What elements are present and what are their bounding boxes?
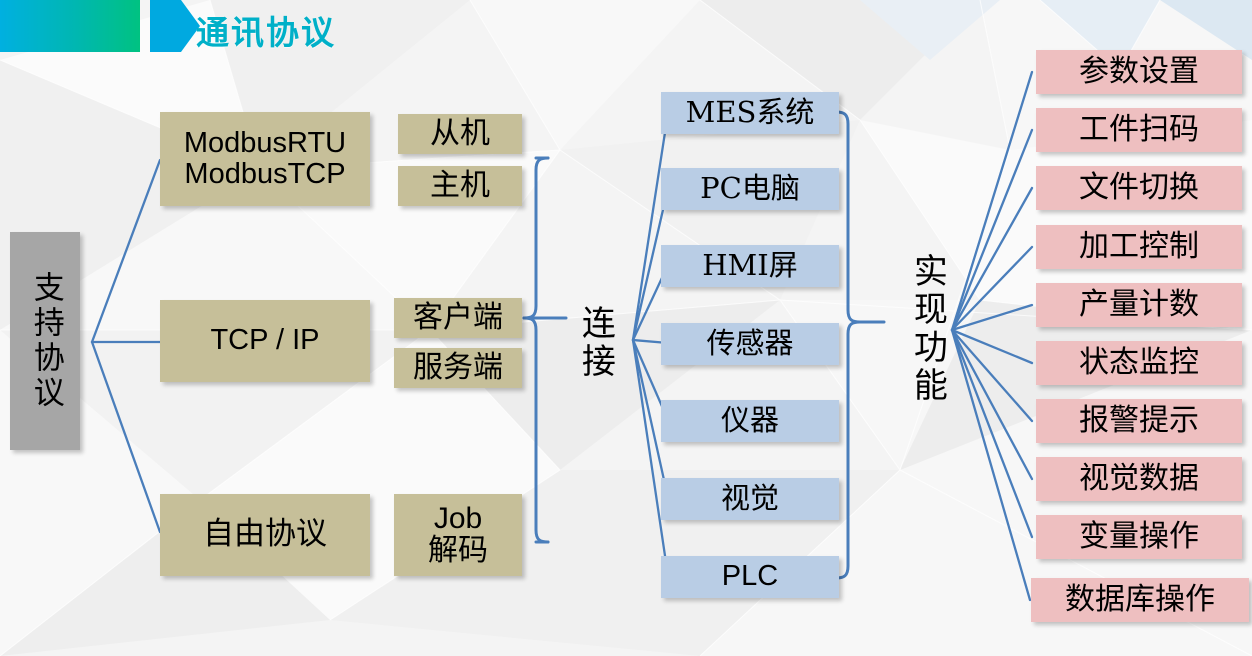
ribbon-arrow-icon bbox=[150, 0, 200, 52]
role-box-master[interactable]: 主机 bbox=[398, 166, 522, 206]
function-box-alarm-prompt[interactable]: 报警提示 bbox=[1036, 399, 1242, 443]
root-node-label: 支持协议 bbox=[28, 271, 61, 411]
role-master-label: 主机 bbox=[430, 170, 490, 202]
device-box-hmi[interactable]: HMI屏 bbox=[661, 245, 839, 287]
ribbon-bar bbox=[0, 0, 140, 52]
protocol-tcpip-label: TCP / IP bbox=[210, 325, 319, 356]
function-workpiece-scan-label: 工件扫码 bbox=[1079, 114, 1199, 146]
device-box-mes[interactable]: MES系统 bbox=[661, 92, 839, 134]
device-box-instrument[interactable]: 仪器 bbox=[661, 400, 839, 442]
protocol-box-tcpip[interactable]: TCP / IP bbox=[160, 300, 370, 382]
function-box-vision-data[interactable]: 视觉数据 bbox=[1036, 457, 1242, 501]
function-box-parameter-setting[interactable]: 参数设置 bbox=[1036, 50, 1242, 94]
role-client-label: 客户端 bbox=[413, 302, 503, 334]
function-database-operation-label: 数据库操作 bbox=[1065, 584, 1215, 616]
device-plc-label: PLC bbox=[722, 561, 778, 592]
device-mes-label: MES系统 bbox=[686, 97, 815, 128]
role-box-server[interactable]: 服务端 bbox=[394, 348, 522, 388]
device-box-plc[interactable]: PLC bbox=[661, 556, 839, 598]
root-node-support-protocol[interactable]: 支持协议 bbox=[10, 232, 80, 450]
function-box-file-switch[interactable]: 文件切换 bbox=[1036, 166, 1242, 210]
ribbon-gap bbox=[140, 0, 150, 52]
device-instrument-label: 仪器 bbox=[721, 405, 779, 436]
role-box-slave[interactable]: 从机 bbox=[398, 114, 522, 154]
page-title: 通讯协议 bbox=[196, 6, 336, 54]
device-vision-label: 视觉 bbox=[721, 483, 779, 514]
device-hmi-label: HMI屏 bbox=[702, 250, 797, 281]
function-box-variable-operation[interactable]: 变量操作 bbox=[1036, 515, 1242, 559]
role-slave-label: 从机 bbox=[430, 118, 490, 150]
function-variable-operation-label: 变量操作 bbox=[1079, 521, 1199, 553]
function-box-database-operation[interactable]: 数据库操作 bbox=[1031, 578, 1249, 622]
function-alarm-prompt-label: 报警提示 bbox=[1079, 405, 1199, 437]
device-sensor-label: 传感器 bbox=[706, 328, 793, 359]
header-ribbon bbox=[0, 0, 200, 52]
device-pc-label: PC电脑 bbox=[700, 173, 800, 204]
function-box-output-count[interactable]: 产量计数 bbox=[1036, 283, 1242, 327]
role-decode-label: 解码 bbox=[428, 535, 488, 567]
device-box-sensor[interactable]: 传感器 bbox=[661, 323, 839, 365]
function-box-machining-control[interactable]: 加工控制 bbox=[1036, 225, 1242, 269]
device-box-pc[interactable]: PC电脑 bbox=[661, 168, 839, 210]
role-job-label: Job bbox=[434, 503, 482, 535]
function-machining-control-label: 加工控制 bbox=[1079, 231, 1199, 263]
function-status-monitor-label: 状态监控 bbox=[1079, 347, 1199, 379]
hub-connect[interactable]: 连接 bbox=[573, 295, 617, 391]
function-box-workpiece-scan[interactable]: 工件扫码 bbox=[1036, 108, 1242, 152]
protocol-box-free[interactable]: 自由协议 bbox=[160, 494, 370, 576]
hub-functions[interactable]: 实现功能 bbox=[905, 234, 949, 424]
role-box-client[interactable]: 客户端 bbox=[394, 298, 522, 338]
role-box-job-decode[interactable]: Job 解码 bbox=[394, 494, 522, 576]
diagram-canvas: 通讯协议 支持协议 ModbusRTU ModbusTCP TCP / IP 自… bbox=[0, 0, 1252, 656]
function-output-count-label: 产量计数 bbox=[1079, 289, 1199, 321]
hub-connect-label: 连接 bbox=[577, 305, 614, 381]
function-parameter-setting-label: 参数设置 bbox=[1079, 56, 1199, 88]
hub-functions-label: 实现功能 bbox=[909, 253, 946, 405]
protocol-modbus-tcp-label: ModbusTCP bbox=[184, 159, 345, 190]
protocol-free-label: 自由协议 bbox=[203, 518, 327, 551]
function-box-status-monitor[interactable]: 状态监控 bbox=[1036, 341, 1242, 385]
function-file-switch-label: 文件切换 bbox=[1079, 172, 1199, 204]
function-vision-data-label: 视觉数据 bbox=[1079, 463, 1199, 495]
protocol-modbus-rtu-label: ModbusRTU bbox=[184, 128, 346, 159]
device-box-vision[interactable]: 视觉 bbox=[661, 478, 839, 520]
protocol-box-modbus[interactable]: ModbusRTU ModbusTCP bbox=[160, 112, 370, 206]
role-server-label: 服务端 bbox=[413, 352, 503, 384]
